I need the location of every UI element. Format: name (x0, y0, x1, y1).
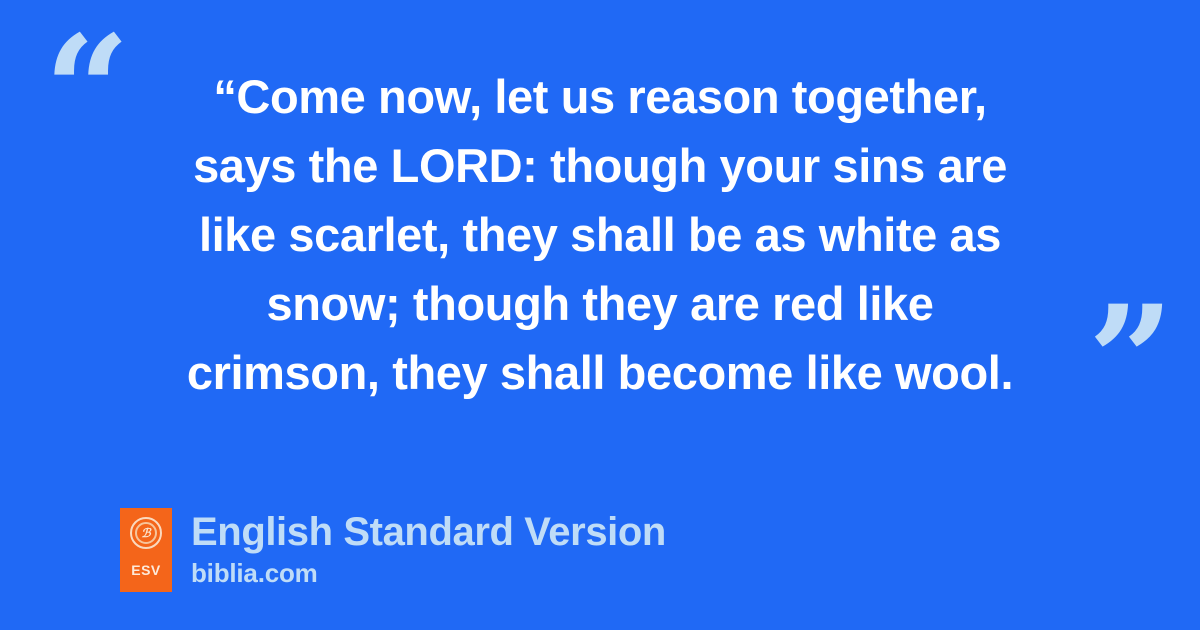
attribution: ℬ ESV English Standard Version biblia.co… (120, 508, 666, 592)
esv-seal-monogram: ℬ (141, 527, 150, 539)
verse-line: “Come now, let us reason together, (108, 62, 1092, 131)
attribution-text: English Standard Version biblia.com (191, 508, 666, 588)
esv-seal-icon: ℬ (130, 517, 162, 549)
close-quote-decoration-icon: ” (1088, 286, 1172, 436)
verse-line: snow; though they are red like (108, 269, 1092, 338)
esv-logo-icon: ℬ ESV (120, 508, 172, 592)
verse-text-block: “Come now, let us reason together, says … (108, 62, 1092, 407)
translation-name: English Standard Version (191, 508, 666, 556)
verse-line: like scarlet, they shall be as white as (108, 200, 1092, 269)
verse-line: crimson, they shall become like wool. (108, 338, 1092, 407)
verse-line: says the LORD: though your sins are (108, 131, 1092, 200)
esv-logo-abbreviation: ESV (131, 563, 161, 577)
site-name[interactable]: biblia.com (191, 558, 666, 588)
bible-verse-card: “ “Come now, let us reason together, say… (0, 0, 1200, 630)
